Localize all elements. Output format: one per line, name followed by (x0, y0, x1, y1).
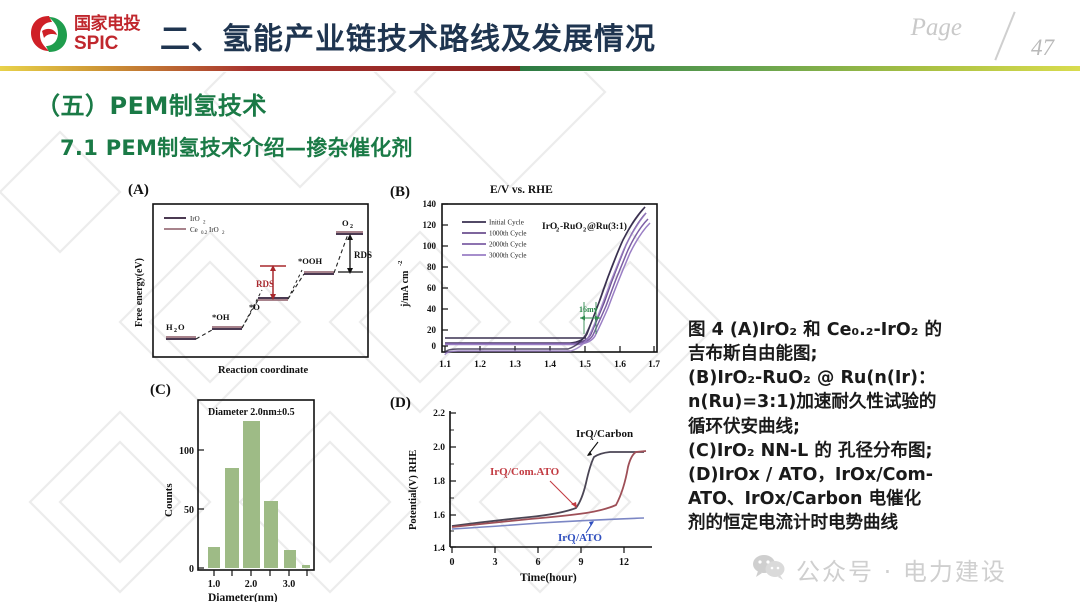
figure-caption: 图 4 (A)IrO₂ 和 Ce₀.₂-IrO₂ 的 吉布斯自由能图; (B)I… (688, 318, 988, 535)
caption-line-2: 吉布斯自由能图; (688, 342, 988, 366)
svg-text:2: 2 (350, 224, 353, 230)
figure-4: (A) IrO 2 Ce 0.2 IrO 2 (120, 182, 680, 602)
svg-text:Initial Cycle: Initial Cycle (489, 219, 524, 227)
svg-text:140: 140 (423, 199, 437, 209)
svg-text:3000th Cycle: 3000th Cycle (489, 252, 527, 260)
svg-text:1.0: 1.0 (208, 579, 221, 590)
caption-line-9: 剂的恒定电流计时电势曲线 (688, 511, 988, 535)
svg-text:2.0: 2.0 (433, 443, 445, 453)
svg-text:*O: *O (249, 302, 260, 312)
panel-d-svg: 2.22.01.8 1.61.4 036 912 Potential(V) RH… (390, 395, 680, 602)
caption-line-5: 循环伏安曲线; (688, 415, 988, 439)
caption-line-6: (C)IrO₂ NN-L 的 孔径分布图; (688, 439, 988, 463)
svg-text:1.3: 1.3 (509, 360, 521, 370)
svg-text:Diameter 2.0nm±0.5: Diameter 2.0nm±0.5 (208, 407, 295, 418)
caption-line-4: n(Ru)=3:1)加速耐久性试验的 (688, 390, 988, 414)
svg-text:*OOH: *OOH (298, 256, 322, 266)
svg-text:20: 20 (427, 325, 437, 335)
caption-line-1: 图 4 (A)IrO₂ 和 Ce₀.₂-IrO₂ 的 (688, 318, 988, 342)
svg-text:-RuO: -RuO (560, 222, 583, 232)
svg-text:1.1: 1.1 (439, 360, 451, 370)
svg-text:H: H (166, 322, 173, 332)
svg-text:1000th Cycle: 1000th Cycle (489, 230, 527, 238)
panel-c-label: (C) (150, 382, 171, 399)
svg-text:3: 3 (493, 557, 498, 568)
svg-text:Free energy(eV): Free energy(eV) (134, 258, 145, 327)
svg-text:1.4: 1.4 (544, 360, 556, 370)
svg-text:1.4: 1.4 (433, 544, 445, 554)
spic-logo-cn: 国家电投 (74, 16, 140, 33)
panel-d-chronopotentiometry: (D) 2.22.01.8 1.61.4 (390, 395, 680, 602)
wechat-icon (752, 553, 786, 586)
panel-a-free-energy-diagram: (A) IrO 2 Ce 0.2 IrO 2 (120, 182, 385, 387)
svg-text:Ce: Ce (190, 226, 198, 234)
svg-text:1.8: 1.8 (433, 477, 445, 487)
svg-text:1.6: 1.6 (614, 360, 626, 370)
svg-text:RDS: RDS (256, 279, 274, 289)
svg-text:Time(hour): Time(hour) (520, 572, 577, 584)
svg-text:9: 9 (579, 557, 584, 568)
header-divider-right (520, 66, 1080, 71)
svg-text:IrO: IrO (190, 215, 200, 223)
svg-text:0: 0 (189, 564, 194, 575)
panel-b-cv-curves: (B) E/V vs. RHE 140120100 806040 200 (390, 182, 680, 402)
svg-text:O: O (342, 218, 349, 228)
svg-text:0: 0 (450, 557, 455, 568)
spic-logo-en: SPIC (74, 34, 140, 53)
svg-text:1.2: 1.2 (474, 360, 486, 370)
caption-line-8: ATO、IrOx/Carbon 电催化 (688, 487, 988, 511)
spic-swirl-logo-icon (28, 13, 70, 55)
panel-b-title: E/V vs. RHE (490, 184, 553, 196)
svg-text:16mv: 16mv (579, 305, 598, 314)
spic-logo-text: 国家电投 SPIC (74, 16, 140, 53)
svg-text:100: 100 (423, 241, 437, 251)
svg-text:/Carbon: /Carbon (593, 428, 633, 440)
page-label: Page (911, 14, 962, 42)
panel-b-label: (B) (390, 184, 410, 201)
svg-text:2: 2 (556, 227, 559, 234)
svg-text:50: 50 (184, 505, 194, 516)
wechat-watermark-text: 公众号 · 电力建设 (796, 552, 1007, 587)
svg-text:120: 120 (423, 220, 437, 230)
page-title: 二、氢能产业链技术路线及发展情况 (160, 12, 656, 60)
svg-text:IrO: IrO (209, 226, 219, 234)
page-header: 国家电投 SPIC 二、氢能产业链技术路线及发展情况 Page 47 (0, 0, 1080, 72)
svg-text:40: 40 (427, 304, 437, 314)
panel-c-diameter-histogram: (C) Diameter 2.0nm±0.5 050100 (142, 382, 372, 602)
svg-text:Reaction coordinate: Reaction coordinate (218, 365, 308, 376)
svg-text:6: 6 (536, 557, 541, 568)
svg-text:1.6: 1.6 (433, 511, 445, 521)
svg-text:Counts: Counts (163, 483, 175, 517)
svg-text:12: 12 (619, 557, 629, 568)
svg-text:0.2: 0.2 (201, 231, 208, 236)
panel-d-label: (D) (390, 395, 411, 412)
page-slash-divider (994, 12, 1015, 61)
panel-c-svg: Diameter 2.0nm±0.5 050100 (142, 382, 372, 602)
svg-text:O: O (178, 322, 185, 332)
svg-text:j/mA cm: j/mA cm (400, 270, 411, 308)
svg-text:2.0: 2.0 (245, 579, 258, 590)
svg-text:Potential(V) RHE: Potential(V) RHE (408, 450, 419, 530)
svg-text:60: 60 (427, 283, 437, 293)
svg-text:1.7: 1.7 (648, 360, 660, 370)
header-divider-rule (0, 66, 1080, 71)
panel-a-label: (A) (128, 182, 149, 199)
svg-text:@Ru(3:1): @Ru(3:1) (587, 221, 627, 232)
svg-text:100: 100 (179, 446, 194, 457)
svg-text:3.0: 3.0 (283, 579, 296, 590)
wechat-watermark: 公众号 · 电力建设 (752, 552, 1007, 587)
svg-text:2.2: 2.2 (433, 409, 445, 419)
svg-text:/Com.ATO: /Com.ATO (507, 466, 560, 478)
svg-text:-2: -2 (397, 261, 404, 266)
header-divider-left (0, 66, 520, 71)
svg-text:2: 2 (174, 328, 177, 334)
panel-a-svg: IrO 2 Ce 0.2 IrO 2 (120, 182, 385, 387)
svg-text:Diameter(nm): Diameter(nm) (208, 592, 278, 602)
svg-text:80: 80 (427, 262, 437, 272)
svg-text:2000th Cycle: 2000th Cycle (489, 241, 527, 249)
subsection-heading: 7.1 PEM制氢技术介绍—掺杂催化剂 (60, 132, 413, 162)
svg-text:/ATO: /ATO (575, 532, 602, 544)
svg-text:2: 2 (222, 231, 225, 236)
caption-line-3: (B)IrO₂-RuO₂ @ Ru(n(Ir)： (688, 366, 988, 390)
svg-text:2: 2 (583, 227, 586, 234)
panel-b-svg: 140120100 806040 200 1.11.21.3 1.41.51.6 (390, 182, 680, 402)
spic-logo: 国家电投 SPIC (28, 11, 156, 57)
svg-text:1.5: 1.5 (579, 360, 591, 370)
page-number: 47 (1031, 35, 1054, 61)
svg-text:*OH: *OH (212, 312, 230, 322)
caption-line-7: (D)IrOx / ATO，IrOx/Com- (688, 463, 988, 487)
section-heading: （五）PEM制氢技术 (36, 86, 267, 121)
svg-text:2: 2 (203, 221, 206, 226)
svg-text:RDS: RDS (354, 250, 372, 260)
svg-text:0: 0 (432, 341, 437, 351)
